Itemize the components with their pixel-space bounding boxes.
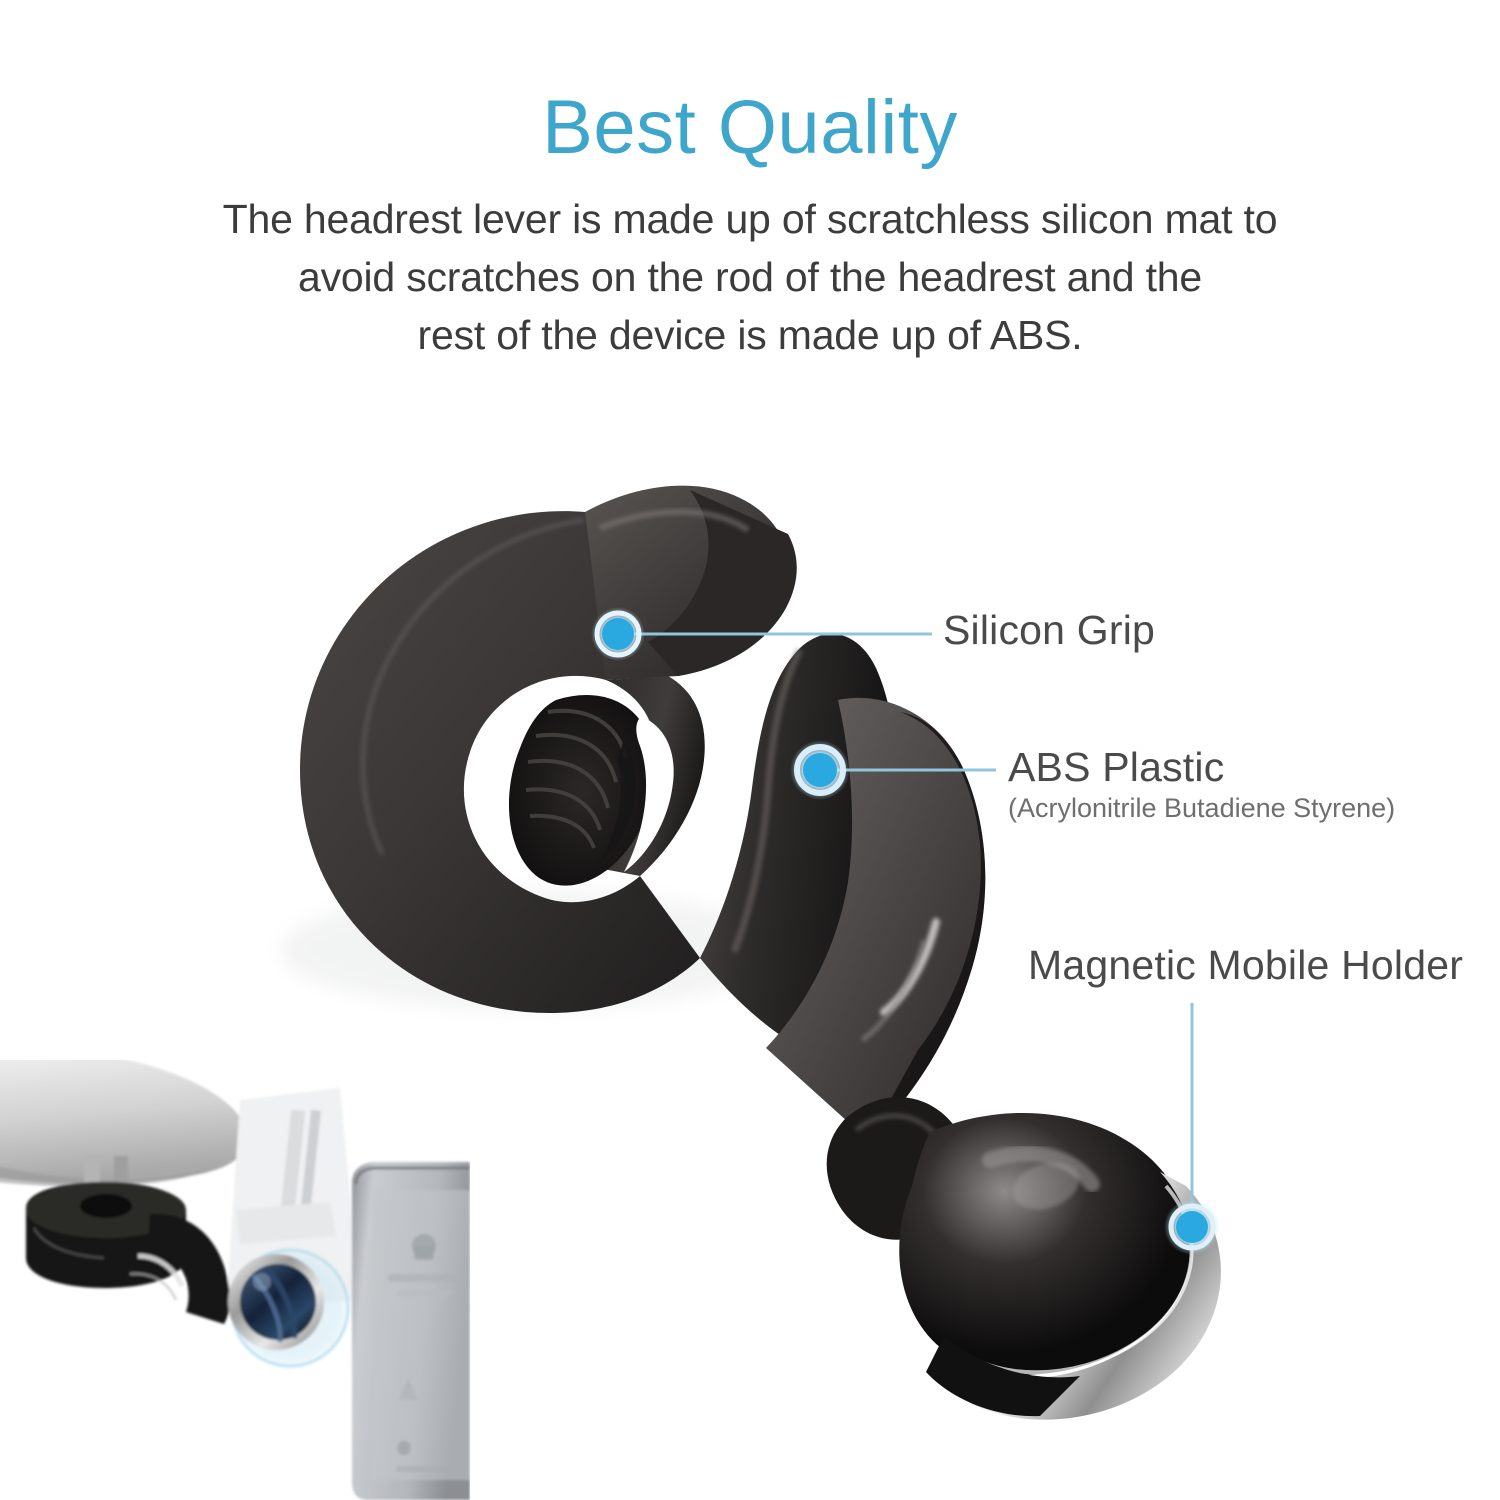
- phone-screen: [372, 1190, 470, 1480]
- callout-label-abs-plastic: ABS Plastic (Acrylonitrile Butadiene Sty…: [1008, 745, 1395, 824]
- callout-label-magnetic-holder: Magnetic Mobile Holder: [1028, 943, 1463, 987]
- callout-label-silicon-grip: Silicon Grip: [943, 608, 1155, 652]
- phone-camera-icon: [397, 1441, 411, 1455]
- inset-clamp-hole: [80, 1194, 132, 1218]
- callout-title-silicon-grip: Silicon Grip: [943, 608, 1155, 652]
- phone-date-text: [398, 1290, 452, 1296]
- inset-usage-illustration: [0, 1060, 470, 1500]
- callout-title-magnetic-holder: Magnetic Mobile Holder: [1028, 943, 1463, 987]
- phone-lock-body: [414, 1246, 434, 1260]
- magnet-face-glare: [253, 1273, 271, 1291]
- callout-subtitle-abs-plastic: (Acrylonitrile Butadiene Styrene): [1008, 793, 1395, 824]
- phone-time-text: [388, 1274, 460, 1282]
- phone-home-bar: [396, 1466, 454, 1472]
- infographic-canvas: Best Quality The headrest lever is made …: [0, 0, 1500, 1500]
- callout-title-abs-plastic: ABS Plastic: [1008, 745, 1395, 789]
